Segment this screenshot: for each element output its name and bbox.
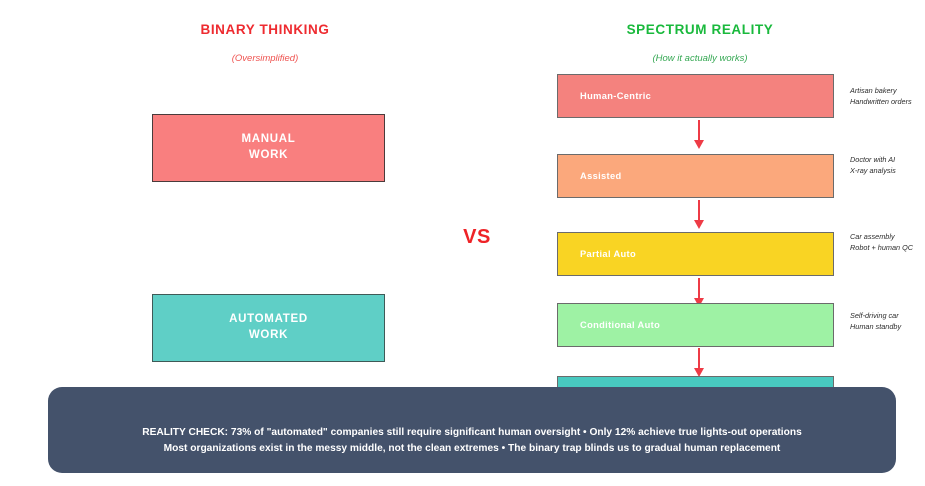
binary-box-manual-work: MANUAL WORK (152, 114, 385, 182)
reality-check-panel: REALITY CHECK: 73% of "automated" compan… (48, 387, 896, 473)
spectrum-stage-human-centric: Human-Centric (557, 74, 834, 118)
spectrum-stage-partial-auto-label: Partial Auto (558, 249, 636, 259)
spectrum-annotation-partial-auto: Car assembly Robot + human QC (850, 232, 925, 253)
binary-box-automated-work: AUTOMATED WORK (152, 294, 385, 362)
spectrum-reality-subtitle: (How it actually works) (565, 53, 835, 64)
spectrum-stage-conditional-auto-label: Conditional Auto (558, 320, 660, 330)
binary-box-automated-work-label: AUTOMATED WORK (229, 312, 308, 343)
spectrum-annotation-assisted: Doctor with AI X-ray analysis (850, 155, 925, 176)
spectrum-stage-assisted: Assisted (557, 154, 834, 198)
diagram-canvas: BINARY THINKING (Oversimplified) MANUAL … (0, 0, 925, 486)
spectrum-annotation-conditional-auto: Self-driving car Human standby (850, 311, 925, 332)
vs-marker: VS (432, 226, 522, 249)
binary-thinking-title: BINARY THINKING (130, 22, 400, 37)
spectrum-reality-title: SPECTRUM REALITY (565, 22, 835, 37)
spectrum-stage-conditional-auto: Conditional Auto (557, 303, 834, 347)
binary-box-manual-work-label: MANUAL WORK (241, 132, 295, 163)
spectrum-stage-human-centric-label: Human-Centric (558, 91, 651, 101)
arrow-down-icon-1 (694, 120, 705, 150)
spectrum-annotation-human-centric: Artisan bakery Handwritten orders (850, 86, 925, 107)
arrow-down-icon-4 (694, 348, 705, 378)
reality-check-text: REALITY CHECK: 73% of "automated" compan… (122, 425, 822, 457)
binary-thinking-subtitle: (Oversimplified) (130, 53, 400, 64)
spectrum-stage-assisted-label: Assisted (558, 171, 622, 181)
spectrum-stage-partial-auto: Partial Auto (557, 232, 834, 276)
arrow-down-icon-2 (694, 200, 705, 230)
